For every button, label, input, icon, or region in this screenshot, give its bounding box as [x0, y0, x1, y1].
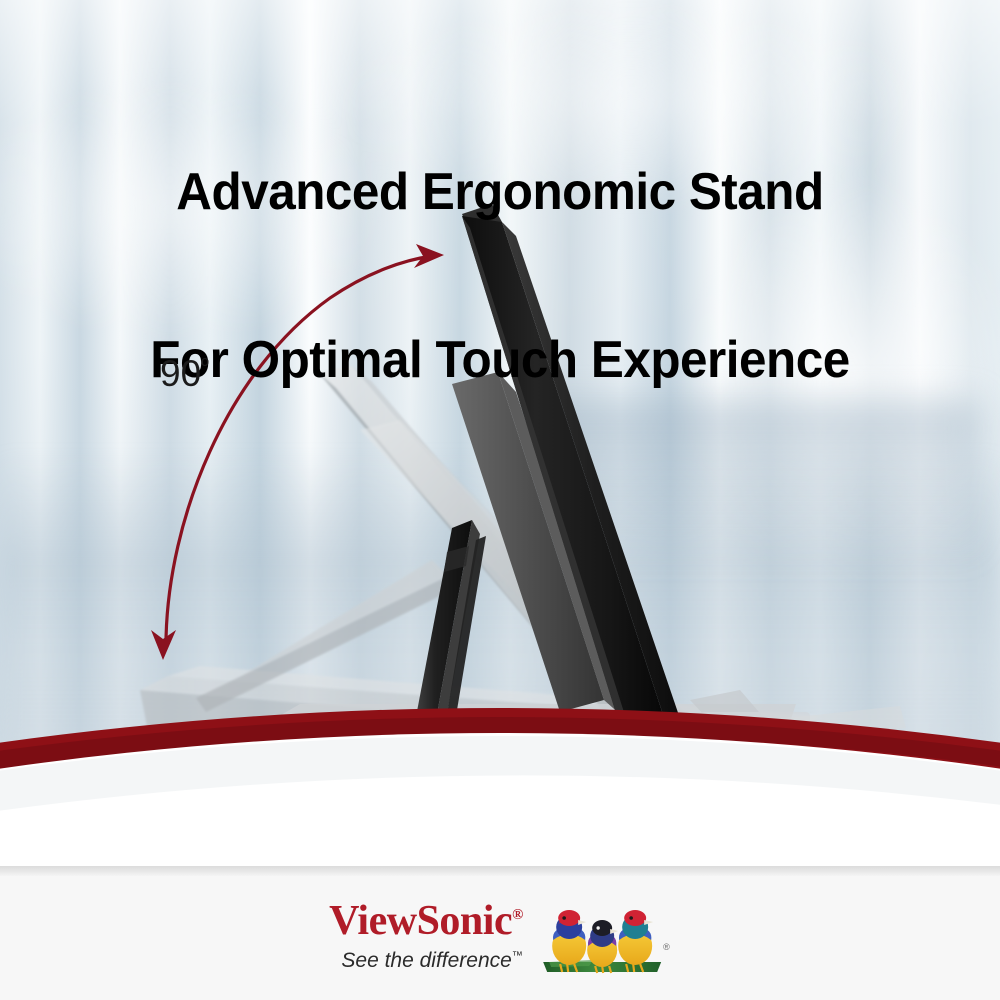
logo-word-text: ViewSonic [329, 898, 512, 944]
rotation-arrowhead-bottom [151, 630, 176, 660]
viewsonic-logo: ViewSonic® See the difference™ [329, 898, 671, 976]
birds-registered-icon: ® [663, 942, 670, 952]
trademark-icon: ™ [512, 950, 523, 962]
footer: ViewSonic® See the difference™ [0, 876, 1000, 1000]
logo-wordmark: ViewSonic® [329, 900, 523, 942]
logo-tagline-text: See the difference [341, 949, 511, 972]
gouldian-finches-icon: ® [533, 900, 671, 976]
logo-tagline: See the difference™ [329, 944, 523, 973]
headline-line-1: Advanced Ergonomic Stand [25, 164, 975, 220]
logo-text-block: ViewSonic® See the difference™ [329, 898, 523, 973]
footer-divider [0, 866, 1000, 876]
product-marketing-poster: Advanced Ergonomic Stand For Optimal Tou… [0, 0, 1000, 1000]
registered-trademark-icon: ® [512, 907, 523, 923]
angle-label: 90º [160, 355, 209, 392]
angle-value: 90 [160, 353, 201, 394]
page-title: Advanced Ergonomic Stand For Optimal Tou… [25, 52, 975, 500]
degree-symbol: º [201, 355, 209, 378]
